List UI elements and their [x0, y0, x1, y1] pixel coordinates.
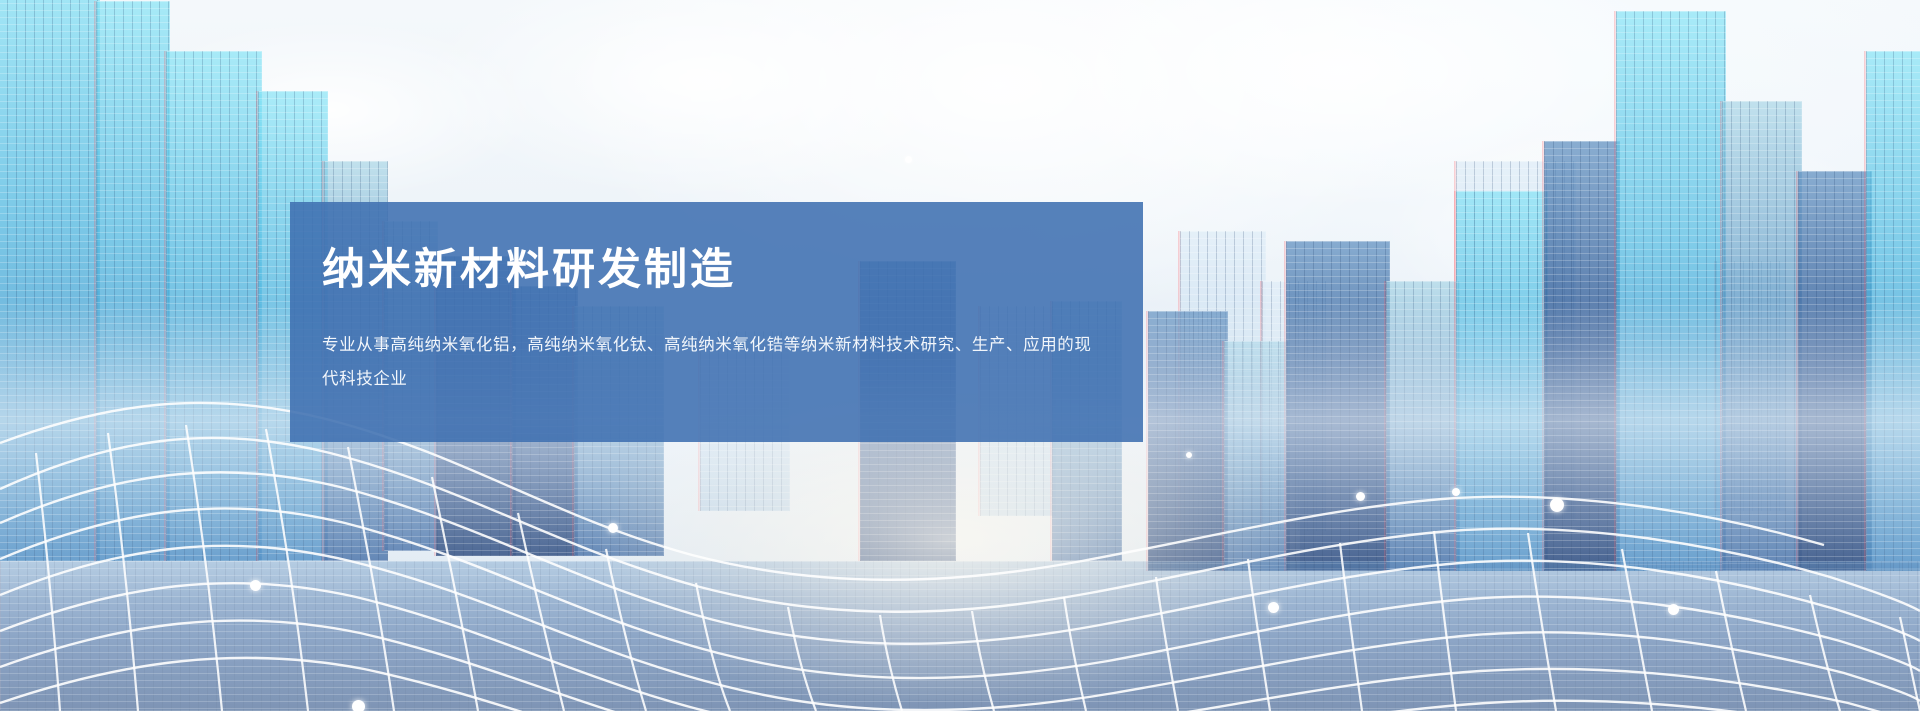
page-title: 纳米新材料研发制造	[322, 246, 1103, 295]
mesh-node	[1186, 452, 1192, 458]
mesh-node	[1668, 604, 1679, 615]
mesh-node	[250, 580, 261, 591]
hero-text-panel: 纳米新材料研发制造 专业从事高纯纳米氧化铝，高纯纳米氧化钛、高纯纳米氧化锆等纳米…	[290, 202, 1143, 442]
mesh-node	[1452, 488, 1460, 496]
hero-description: 专业从事高纯纳米氧化铝，高纯纳米氧化钛、高纯纳米氧化锆等纳米新材料技术研究、生产…	[322, 329, 1103, 397]
hero-description-line-1: 专业从事高纯纳米氧化铝，高纯纳米氧化钛、高纯纳米氧化锆等纳米新材料技术研究、	[322, 336, 972, 354]
mesh-node	[608, 523, 618, 533]
mesh-node	[1550, 498, 1564, 512]
mesh-node	[1268, 602, 1279, 613]
mesh-node	[352, 700, 365, 711]
hero-banner: 纳米新材料研发制造 专业从事高纯纳米氧化铝，高纯纳米氧化钛、高纯纳米氧化锆等纳米…	[0, 0, 1920, 711]
mesh-node	[905, 156, 912, 163]
mesh-node	[1356, 492, 1365, 501]
